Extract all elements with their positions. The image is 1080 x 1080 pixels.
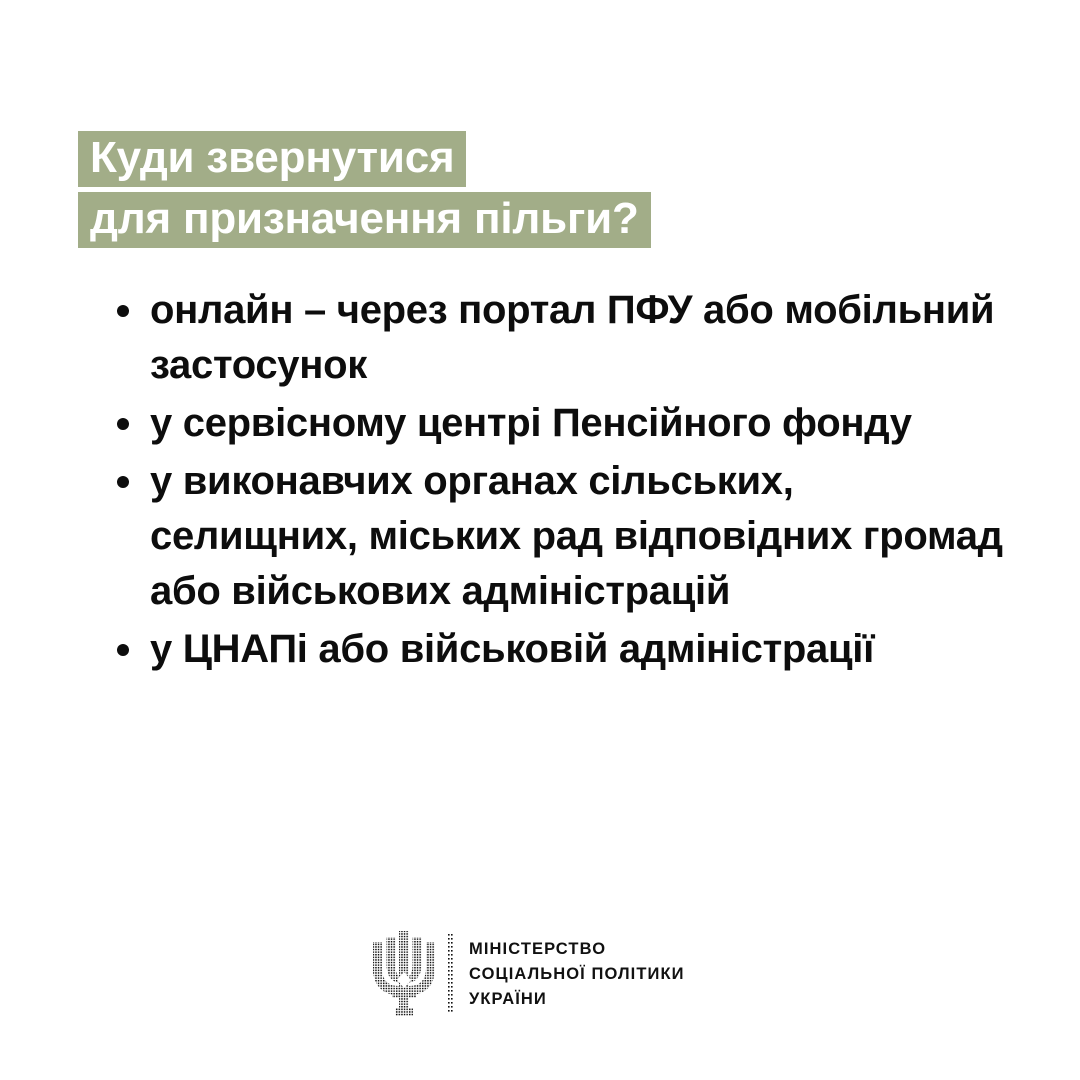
page-title: Куди звернутися для призначення пільги?	[78, 131, 651, 248]
list-item-label: у виконавчих органах сільських, селищних…	[150, 454, 1008, 619]
options-list: онлайн – через портал ПФУ або мобільний …	[108, 283, 1008, 680]
list-item: у ЦНАПі або військовій адміністрації	[108, 622, 1008, 677]
list-item: онлайн – через портал ПФУ або мобільний …	[108, 283, 1008, 393]
bullet-dot-icon	[117, 418, 129, 430]
list-item-label: онлайн – через портал ПФУ або мобільний …	[150, 283, 1008, 393]
ministry-logo: Міністерство соціальної політики України	[370, 928, 685, 1020]
list-item-label: у сервісному центрі Пенсійного фонду	[150, 396, 1008, 451]
poster-canvas: Куди звернутися для призначення пільги? …	[0, 0, 1080, 1080]
bullet-dot-icon	[117, 476, 129, 488]
page-title-line-1: Куди звернутися	[78, 131, 466, 187]
logo-divider	[448, 934, 453, 1014]
bullet-dot-icon	[117, 644, 129, 656]
ministry-logo-text: Міністерство соціальної політики України	[469, 937, 685, 1012]
ministry-logo-line-3: України	[469, 987, 685, 1012]
page-title-line-2: для призначення пільги?	[78, 192, 651, 248]
list-item-label: у ЦНАПі або військовій адміністрації	[150, 622, 1008, 677]
list-item: у сервісному центрі Пенсійного фонду	[108, 396, 1008, 451]
bullet-dot-icon	[117, 305, 129, 317]
list-item: у виконавчих органах сільських, селищних…	[108, 454, 1008, 619]
ministry-logo-line-2: соціальної політики	[469, 962, 685, 987]
ukraine-trident-emblem	[370, 928, 438, 1020]
ministry-logo-line-1: Міністерство	[469, 937, 685, 962]
